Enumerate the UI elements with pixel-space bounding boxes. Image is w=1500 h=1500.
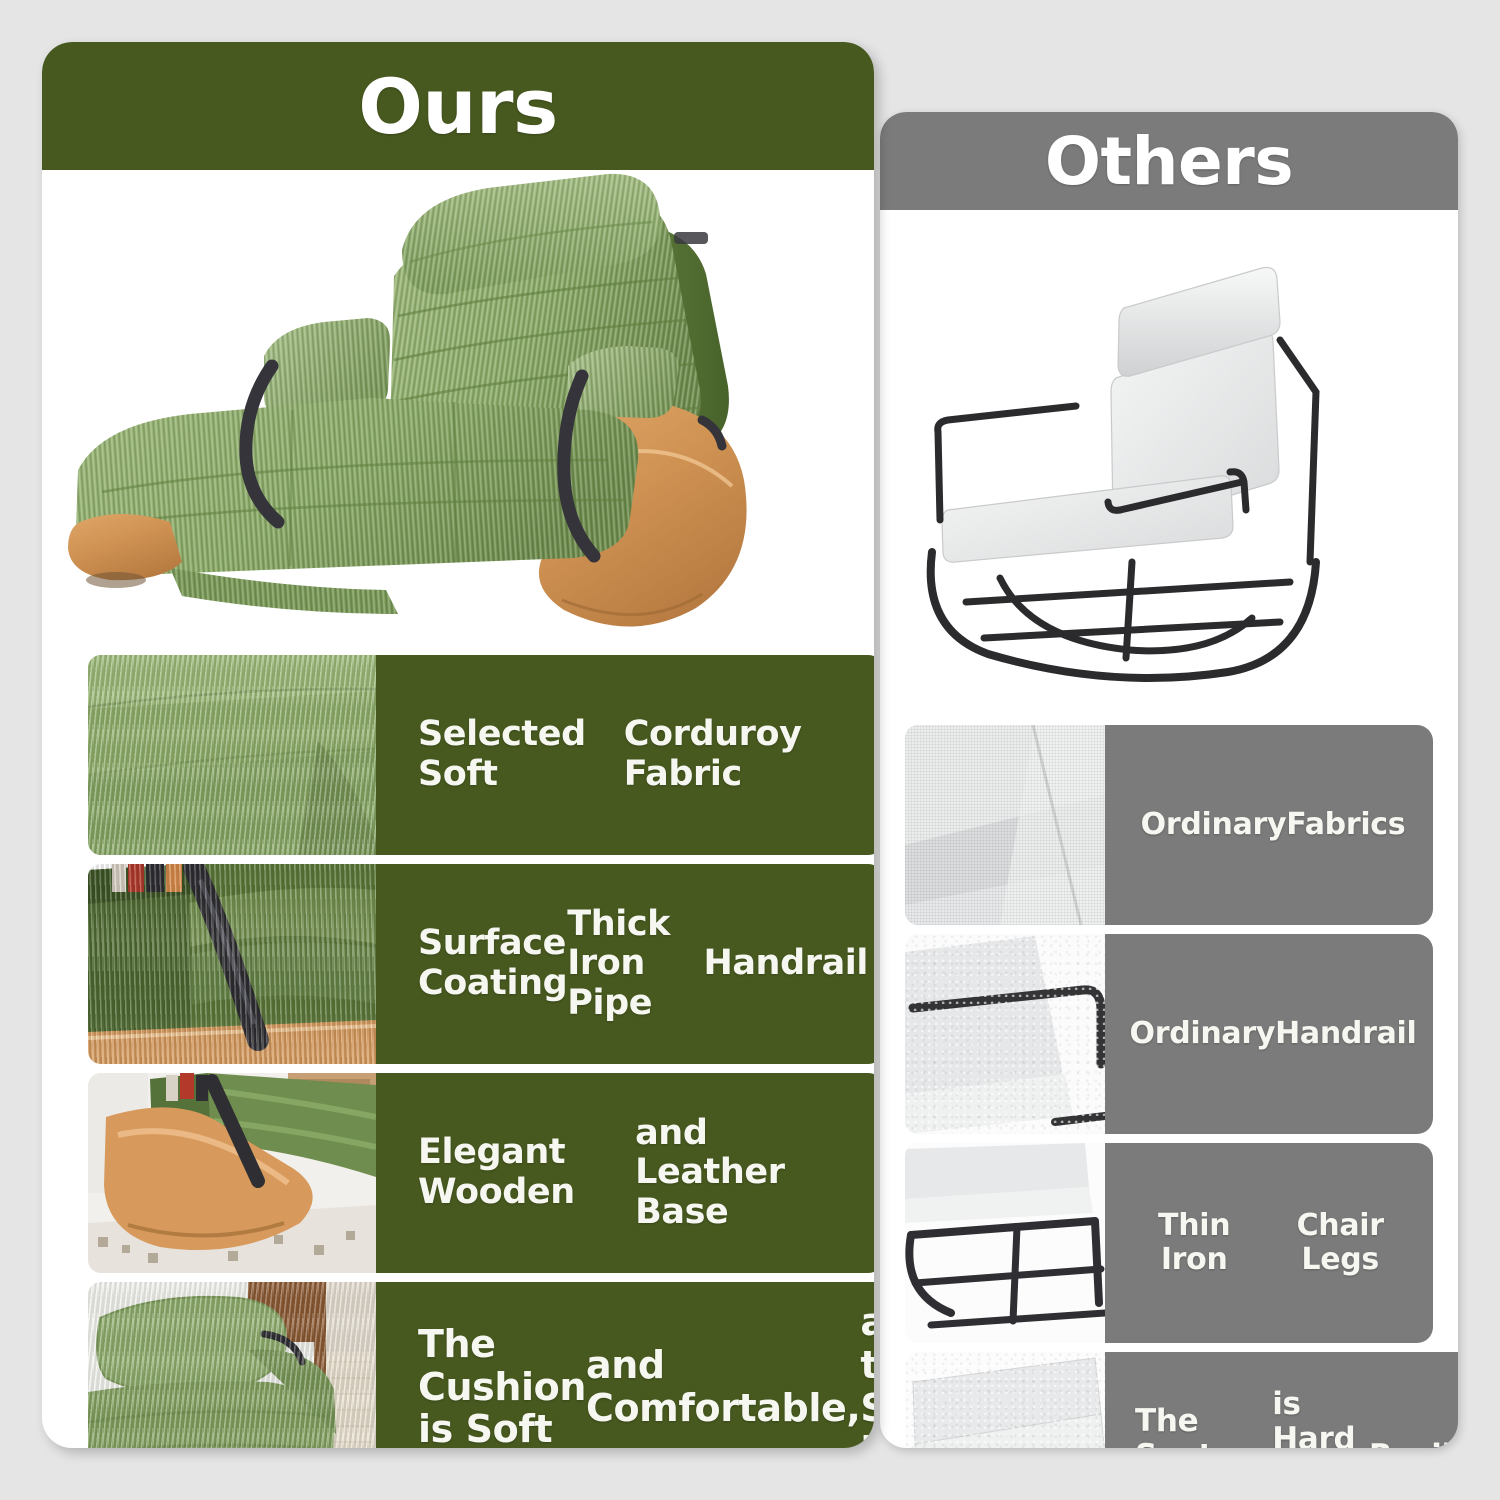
list-item: Elegant Wooden and Leather Base [88, 1073, 874, 1273]
corduroy-fabric-closeup [88, 655, 376, 855]
label-line: Resilience [1369, 1439, 1458, 1448]
gray-boucle-rocking-chair-illustration [880, 210, 1458, 710]
corduroy-rib-texture [88, 655, 376, 855]
label-line: and Leather Base [635, 1114, 868, 1233]
ours-feature-label: The Cushion is Soft and Comfortable, and… [376, 1282, 874, 1448]
list-item: The Seat Cushion is Hard and Lacks Resil… [905, 1352, 1433, 1448]
label-line: and the Sponge is [860, 1301, 874, 1448]
ours-header: Ours [42, 42, 874, 170]
label-line: Ordinary [1130, 1017, 1276, 1051]
label-line: is Hard and Lacks [1272, 1387, 1369, 1448]
list-item: Surface Coating Thick Iron Pipe Handrail [88, 864, 874, 1064]
others-feature-label: Thin Iron Chair Legs [1105, 1143, 1433, 1343]
ours-feature-label: Elegant Wooden and Leather Base [376, 1073, 874, 1273]
label-line: Thick Iron Pipe [567, 905, 703, 1024]
others-feature-label: Ordinary Handrail [1105, 934, 1433, 1134]
label-line: Chair Legs [1261, 1209, 1419, 1277]
wooden-leather-base-closeup [88, 1073, 376, 1273]
label-line: Handrail [1275, 1017, 1416, 1051]
label-line: Corduroy Fabric [624, 715, 868, 794]
label-line: Fabrics [1286, 808, 1405, 842]
corduroy-rib-texture [88, 1282, 376, 1448]
soft-cushion-bolster-closeup [88, 1282, 376, 1448]
others-header: Others [880, 112, 1458, 210]
thin-iron-legs-closeup [905, 1143, 1105, 1343]
others-feature-label: The Seat Cushion is Hard and Lacks Resil… [1105, 1352, 1458, 1448]
label-line: Surface Coating [418, 924, 567, 1003]
list-item: Ordinary Fabrics [905, 725, 1433, 925]
label-line: The Cushion is Soft [418, 1323, 586, 1448]
ours-feature-label: Surface Coating Thick Iron Pipe Handrail [376, 864, 874, 1064]
boucle-texture [905, 934, 1105, 1134]
comparison-infographic: Others [0, 0, 1500, 1500]
list-item: Thin Iron Chair Legs [905, 1143, 1433, 1343]
label-line: Selected Soft [418, 715, 624, 794]
others-hero-image [880, 210, 1458, 710]
others-feature-list: Ordinary Fabrics [905, 725, 1433, 1448]
ours-feature-label: Selected Soft Corduroy Fabric [376, 655, 874, 855]
others-feature-label: Ordinary Fabrics [1105, 725, 1433, 925]
label-line: Handrail [703, 944, 868, 984]
iron-pipe-handrail-closeup [88, 864, 376, 1064]
ours-feature-list: Selected Soft Corduroy Fabric [88, 655, 874, 1448]
label-line: The Seat Cushion [1135, 1404, 1272, 1448]
label-line: Thin Iron [1127, 1209, 1261, 1277]
others-panel: Others [880, 112, 1458, 1448]
others-header-title: Others [1045, 123, 1293, 200]
ours-panel: Ours [42, 42, 874, 1448]
list-item: Selected Soft Corduroy Fabric [88, 655, 874, 855]
label-line: Elegant Wooden [418, 1133, 635, 1212]
ordinary-handrail-closeup [905, 934, 1105, 1134]
corduroy-rib-texture [88, 864, 376, 1064]
ours-hero-image [42, 170, 874, 640]
green-corduroy-rocking-recliner-illustration [42, 170, 874, 640]
label-line: and Comfortable, [586, 1344, 860, 1430]
ours-header-title: Ours [358, 62, 557, 151]
list-item: Ordinary Handrail [905, 934, 1433, 1134]
boucle-texture [905, 1352, 1105, 1448]
list-item: The Cushion is Soft and Comfortable, and… [88, 1282, 874, 1448]
fabric-weave-texture [905, 725, 1105, 925]
hard-seat-cushion-closeup [905, 1352, 1105, 1448]
ordinary-fabric-closeup [905, 725, 1105, 925]
label-line: Ordinary [1141, 808, 1287, 842]
